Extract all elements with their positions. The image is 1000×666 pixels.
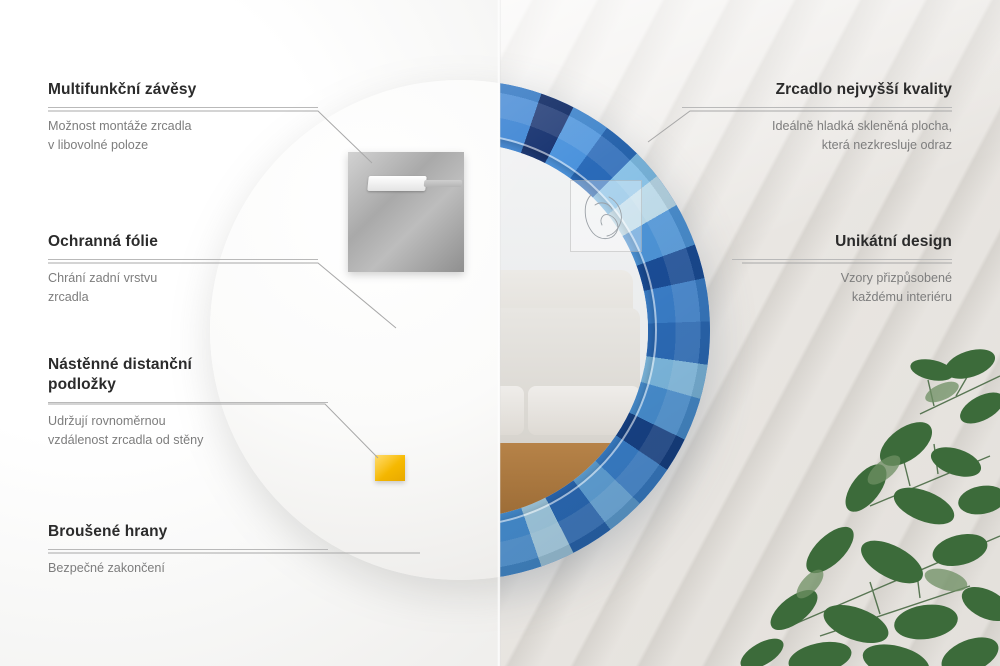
callout-desc-line: zrcadla xyxy=(48,288,318,307)
callout-title: Unikátní design xyxy=(732,232,952,252)
callout-unique-design: Unikátní design Vzory přizpůsobené každé… xyxy=(732,232,952,307)
callout-description: Udržují rovnoměrnou vzdálenost zrcadla o… xyxy=(48,412,328,450)
callout-title: Nástěnné distanční podložky xyxy=(48,355,328,395)
callout-rule xyxy=(48,402,328,403)
callout-description: Možnost montáže zrcadla v libovolné polo… xyxy=(48,117,318,155)
callout-desc-line: která nezkresluje odraz xyxy=(682,136,952,155)
callout-protective-foil: Ochranná fólie Chrání zadní vrstvu zrcad… xyxy=(48,232,318,307)
hanger-keyhole-slot xyxy=(367,176,427,191)
callout-rule xyxy=(732,259,952,260)
callout-rule xyxy=(682,107,952,108)
callout-rule xyxy=(48,549,328,550)
callout-title: Broušené hrany xyxy=(48,522,328,542)
callout-desc-line: Bezpečné zakončení xyxy=(48,559,328,578)
callout-title: Zrcadlo nejvyšší kvality xyxy=(682,80,952,100)
callout-description: Vzory přizpůsobené každému interiéru xyxy=(732,269,952,307)
callout-desc-line: Udržují rovnoměrnou xyxy=(48,412,328,431)
wall-hanger-plate xyxy=(348,152,464,272)
callout-description: Bezpečné zakončení xyxy=(48,559,328,578)
callout-title-line: podložky xyxy=(48,375,328,395)
callout-rule xyxy=(48,107,318,108)
infographic-stage: Multifunkční závěsy Možnost montáže zrca… xyxy=(0,0,1000,666)
callout-description: Chrání zadní vrstvu zrcadla xyxy=(48,269,318,307)
callout-rule xyxy=(48,259,318,260)
callout-desc-line: Možnost montáže zrcadla xyxy=(48,117,318,136)
callout-title: Ochranná fólie xyxy=(48,232,318,252)
callout-highest-quality-mirror: Zrcadlo nejvyšší kvality Ideálně hladká … xyxy=(682,80,952,155)
callout-desc-line: Ideálně hladká skleněná plocha, xyxy=(682,117,952,136)
callout-desc-line: vzdálenost zrcadla od stěny xyxy=(48,431,328,450)
wall-spacer-pad xyxy=(375,455,405,481)
callout-wall-spacers: Nástěnné distanční podložky Udržují rovn… xyxy=(48,355,328,449)
callout-description: Ideálně hladká skleněná plocha, která ne… xyxy=(682,117,952,155)
callout-title: Multifunkční závěsy xyxy=(48,80,318,100)
panel-seam xyxy=(497,0,501,666)
callout-desc-line: v libovolné poloze xyxy=(48,136,318,155)
brand-watermark xyxy=(570,180,642,252)
callout-desc-line: Chrání zadní vrstvu xyxy=(48,269,318,288)
callout-title-line: Nástěnné distanční xyxy=(48,355,328,375)
callout-multifunctional-hangers: Multifunkční závěsy Možnost montáže zrca… xyxy=(48,80,318,155)
callout-polished-edges: Broušené hrany Bezpečné zakončení xyxy=(48,522,328,578)
callout-desc-line: každému interiéru xyxy=(732,288,952,307)
callout-desc-line: Vzory přizpůsobené xyxy=(732,269,952,288)
decorative-mirror xyxy=(500,80,710,580)
